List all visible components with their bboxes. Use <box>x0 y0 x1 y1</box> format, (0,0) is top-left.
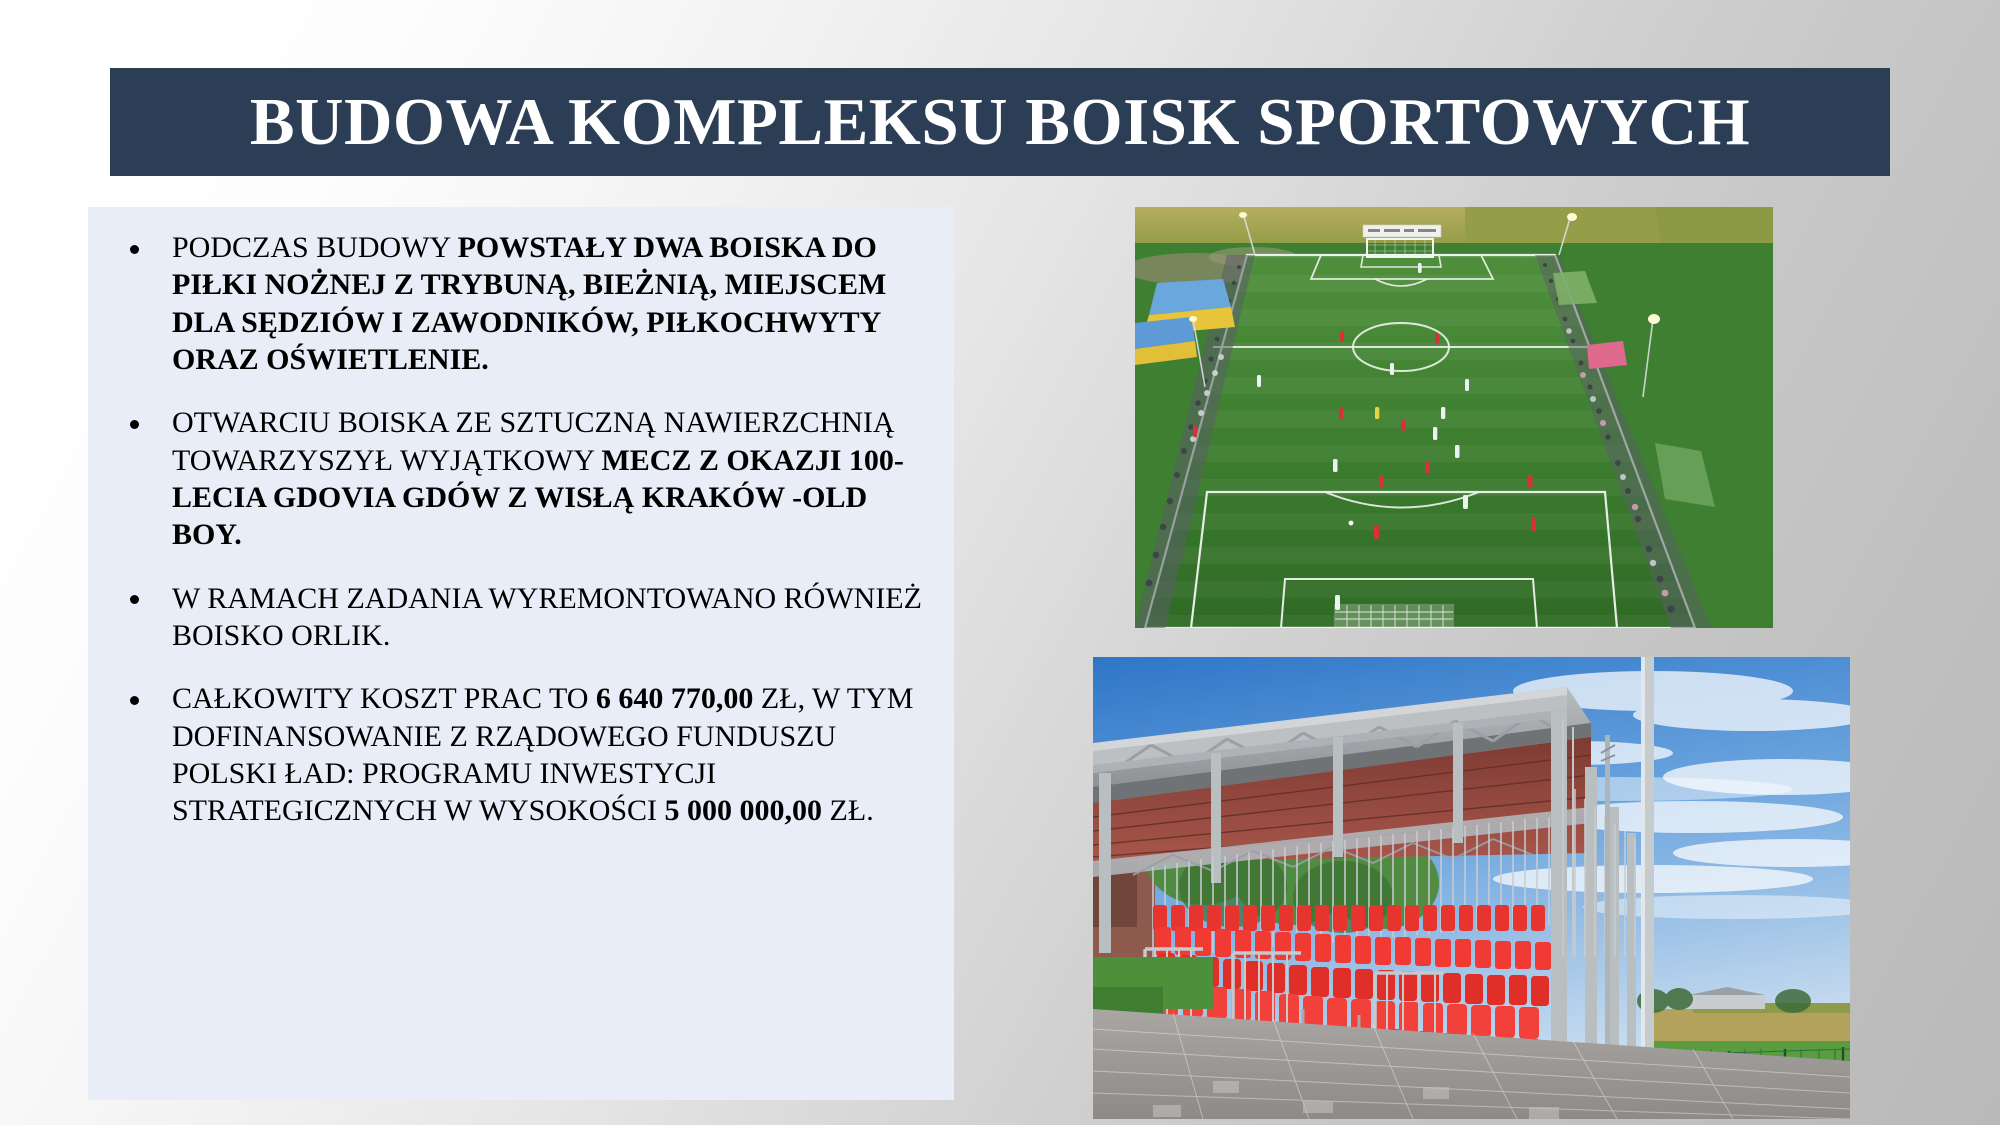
bullet-text-run: 6 640 770,00 <box>596 682 754 715</box>
bullet-dot-icon <box>130 245 139 254</box>
body-text-panel: PODCZAS BUDOWY POWSTAŁY DWA BOISKA DO PI… <box>88 207 954 1100</box>
grandstand-illustration <box>1093 657 1850 1119</box>
bullet-text-run: ZŁ. <box>822 794 874 827</box>
bullet-text-run: 5 000 000,00 <box>665 794 823 827</box>
bullet-dot-icon <box>130 696 139 705</box>
photo-football-pitch <box>1135 207 1773 628</box>
title-band: BUDOWA KOMPLEKSU BOISK SPORTOWYCH <box>110 68 1890 176</box>
football-pitch-illustration <box>1135 207 1773 628</box>
slide: BUDOWA KOMPLEKSU BOISK SPORTOWYCH PODCZA… <box>0 0 2000 1125</box>
bullet-3: W RAMACH ZADANIA WYREMONTOWANO RÓWNIEŻ B… <box>110 580 928 655</box>
bullet-1: PODCZAS BUDOWY POWSTAŁY DWA BOISKA DO PI… <box>110 229 928 378</box>
bullet-dot-icon <box>130 595 139 604</box>
bullet-dot-icon <box>130 420 139 429</box>
photo-grandstand <box>1093 657 1850 1119</box>
bullet-list: PODCZAS BUDOWY POWSTAŁY DWA BOISKA DO PI… <box>110 229 928 830</box>
bullet-text-run: PODCZAS BUDOWY <box>172 231 458 264</box>
bullet-text-run: CAŁKOWITY KOSZT PRAC TO <box>172 682 596 715</box>
page-title: BUDOWA KOMPLEKSU BOISK SPORTOWYCH <box>250 89 1750 156</box>
bullet-2: OTWARCIU BOISKA ZE SZTUCZNĄ NAWIERZCHNIĄ… <box>110 404 928 553</box>
bullet-4: CAŁKOWITY KOSZT PRAC TO 6 640 770,00 ZŁ,… <box>110 680 928 829</box>
bullet-text-run: W RAMACH ZADANIA WYREMONTOWANO RÓWNIEŻ B… <box>172 582 922 652</box>
